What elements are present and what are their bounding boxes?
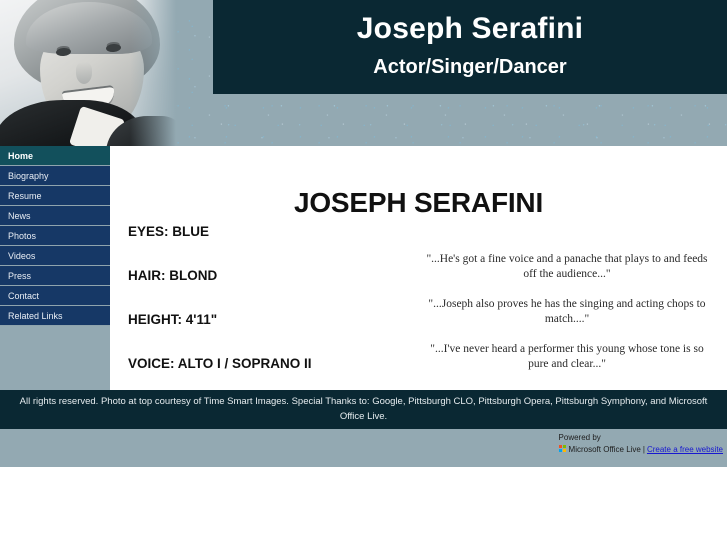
powered-by-label: Powered by bbox=[559, 432, 723, 444]
quote-2: "...Joseph also proves he has the singin… bbox=[420, 297, 714, 328]
site-subtitle: Actor/Singer/Dancer bbox=[213, 56, 727, 79]
footer-disclaimer: All rights reserved. Photo at top courte… bbox=[0, 390, 727, 429]
page-title: JOSEPH SERAFINI bbox=[110, 187, 727, 219]
sidebar-item-biography[interactable]: Biography bbox=[0, 166, 110, 186]
title-panel: Joseph Serafini Actor/Singer/Dancer bbox=[213, 0, 727, 94]
sidebar-item-contact[interactable]: Contact bbox=[0, 286, 110, 306]
site-banner: Joseph Serafini Actor/Singer/Dancer bbox=[0, 0, 727, 146]
sidebar-nav: Home Biography Resume News Photos Videos… bbox=[0, 146, 110, 390]
sidebar-item-related-links[interactable]: Related Links bbox=[0, 306, 110, 326]
microsoft-logo-icon bbox=[559, 445, 567, 453]
sidebar-item-photos[interactable]: Photos bbox=[0, 226, 110, 246]
site-title: Joseph Serafini bbox=[213, 12, 727, 46]
sidebar-item-videos[interactable]: Videos bbox=[0, 246, 110, 266]
sidebar-item-press[interactable]: Press bbox=[0, 266, 110, 286]
main-content: JOSEPH SERAFINI EYES: BLUE HAIR: BLOND H… bbox=[110, 146, 727, 390]
provider-name: Microsoft Office Live bbox=[569, 444, 641, 456]
sidebar-filler bbox=[0, 335, 110, 390]
powered-by-row: Microsoft Office Live | Create a free we… bbox=[559, 444, 723, 456]
page-root: Joseph Serafini Actor/Singer/Dancer Home… bbox=[0, 0, 727, 545]
stat-height: HEIGHT: 4'11" bbox=[128, 312, 408, 327]
headshot-photo bbox=[0, 0, 176, 146]
sidebar-item-home[interactable]: Home bbox=[0, 146, 110, 166]
quotes-list: "...He's got a fine voice and a panache … bbox=[420, 240, 714, 387]
footer-band: Powered by Microsoft Office Live | Creat… bbox=[0, 429, 727, 467]
powered-by-block: Powered by Microsoft Office Live | Creat… bbox=[559, 432, 723, 455]
stat-hair: HAIR: BLOND bbox=[128, 268, 408, 283]
quote-1: "...He's got a fine voice and a panache … bbox=[420, 252, 714, 283]
photo-nose bbox=[76, 62, 92, 84]
stat-voice: VOICE: ALTO I / SOPRANO II bbox=[128, 356, 408, 371]
create-free-website-link[interactable]: Create a free website bbox=[647, 444, 723, 456]
stat-eyes: EYES: BLUE bbox=[128, 224, 408, 239]
photo-edge-fade bbox=[130, 0, 176, 146]
sidebar-item-resume[interactable]: Resume bbox=[0, 186, 110, 206]
stats-list: EYES: BLUE HAIR: BLOND HEIGHT: 4'11" VOI… bbox=[128, 224, 408, 400]
separator: | bbox=[643, 444, 645, 456]
quote-3: "...I've never heard a performer this yo… bbox=[420, 342, 714, 373]
sidebar-item-news[interactable]: News bbox=[0, 206, 110, 226]
